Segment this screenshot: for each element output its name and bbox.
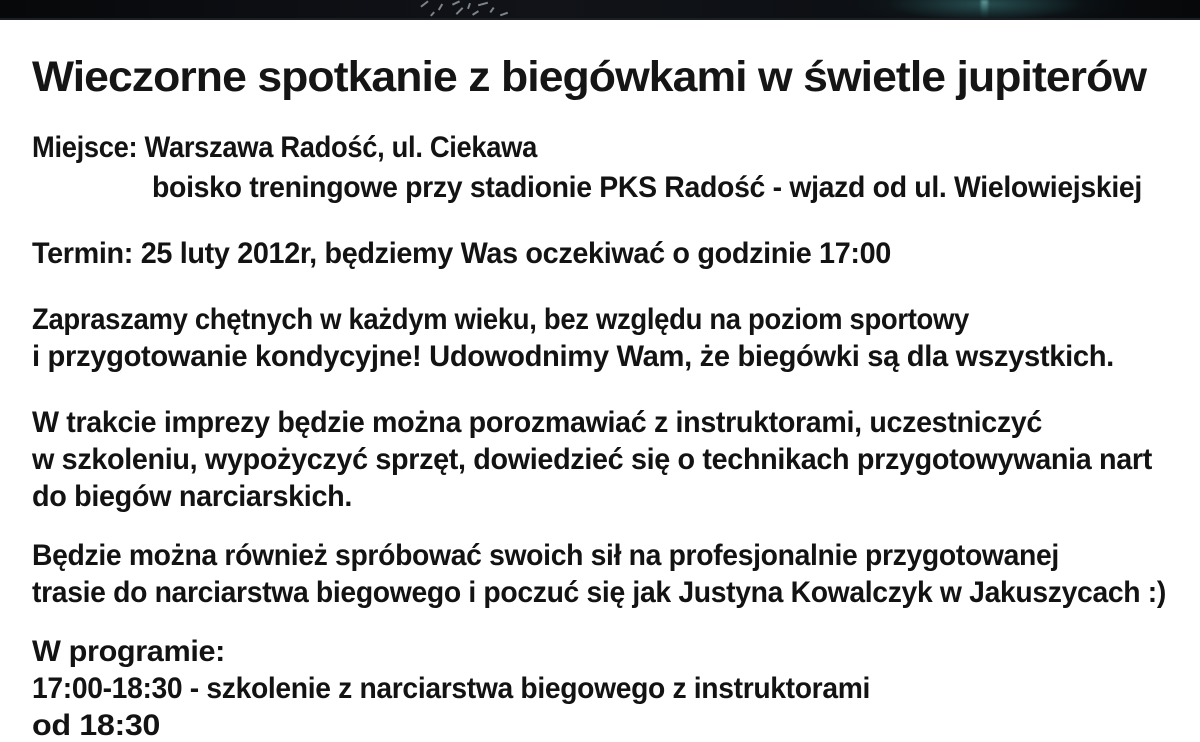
invitation-line-2: i przygotowanie kondycyjne! Udowodnimy W…	[32, 342, 1114, 372]
invitation-line-1: Zapraszamy chętnych w każdym wieku, bez …	[32, 305, 969, 335]
activities-line-2: w szkoleniu, wypożyczyć sprzęt, dowiedzi…	[32, 445, 1152, 475]
page-title: Wieczorne spotkanie z biegówkami w świet…	[32, 56, 1146, 99]
trial-line-2: trasie do narciarstwa biegowego i poczuć…	[32, 578, 1166, 608]
program-item-2: od 18:30	[32, 711, 160, 741]
trial-line-1: Będzie można również spróbować swoich si…	[32, 541, 1059, 571]
place-line-2: boisko treningowe przy stadionie PKS Rad…	[152, 173, 1142, 203]
photo-strip-gradient	[0, 0, 1200, 20]
program-heading: W programie:	[32, 637, 225, 667]
place-line-1: Miejsce: Warszawa Radość, ul. Ciekawa	[32, 133, 537, 163]
activities-line-3: do biegów narciarskich.	[32, 482, 352, 512]
date-line: Termin: 25 luty 2012r, będziemy Was ocze…	[32, 239, 891, 269]
photo-strip	[0, 0, 1200, 20]
activities-line-1: W trakcie imprezy będzie można porozmawi…	[32, 408, 1042, 438]
photo-strip-highlight-streak	[981, 0, 988, 18]
flyer-content: Wieczorne spotkanie z biegówkami w świet…	[0, 20, 1200, 700]
